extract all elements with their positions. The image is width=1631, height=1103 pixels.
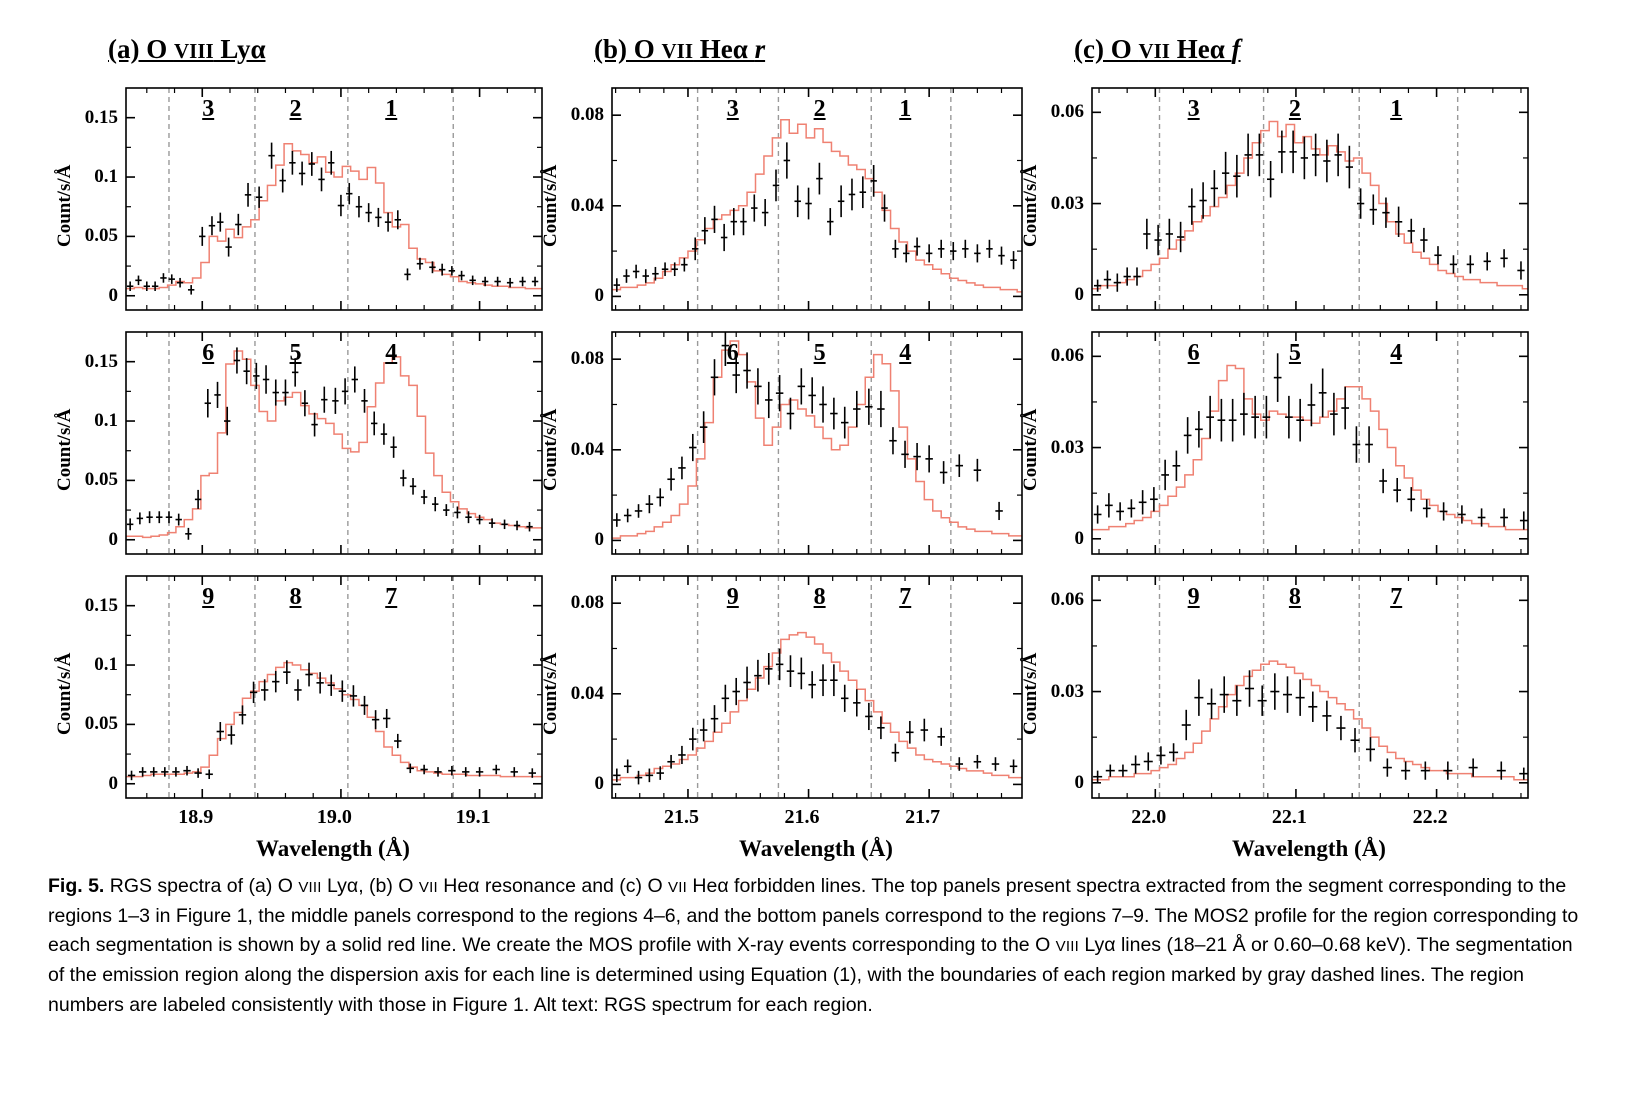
y-tick-label: 0.08: [546, 592, 604, 614]
y-axis-label: Count/s/Å: [54, 409, 76, 491]
region-label-2: 2: [1289, 96, 1301, 123]
region-label-4: 4: [385, 340, 397, 367]
line-type-symbol: r: [755, 34, 766, 64]
y-tick-label: 0.15: [60, 595, 118, 617]
region-label-7: 7: [1390, 584, 1402, 611]
x-tick-label: 18.9: [178, 806, 213, 829]
region-label-8: 8: [814, 584, 826, 611]
x-tick-label: 21.6: [785, 806, 820, 829]
mos2-model-line: [612, 341, 1022, 538]
region-label-9: 9: [727, 584, 739, 611]
rgs-data-points: [613, 325, 1003, 527]
y-axis-label: Count/s/Å: [1020, 165, 1042, 247]
mos2-model-line: [612, 633, 1022, 780]
rgs-data-points: [127, 143, 538, 295]
x-tick-label: 21.5: [664, 806, 699, 829]
x-tick-label: 19.1: [456, 806, 491, 829]
x-tick-label: 21.7: [905, 806, 940, 829]
rgs-data-points: [614, 142, 1017, 292]
plot-a-bottom: [125, 575, 543, 799]
region-label-6: 6: [727, 340, 739, 367]
x-tick-label: 22.2: [1413, 806, 1448, 829]
y-tick-label: 0.06: [1026, 345, 1084, 367]
mos2-model-line: [126, 663, 542, 777]
ion-numeral: VII: [662, 39, 694, 63]
y-tick-label: 0: [1026, 772, 1084, 794]
region-label-3: 3: [202, 96, 214, 123]
mos2-model-line: [1092, 661, 1528, 780]
plot-c-bottom: [1091, 575, 1529, 799]
y-tick-label: 0: [60, 529, 118, 551]
region-label-4: 4: [899, 340, 911, 367]
rgs-data-points: [1094, 131, 1525, 292]
region-label-6: 6: [202, 340, 214, 367]
region-label-5: 5: [1289, 340, 1301, 367]
mos2-model-line: [126, 351, 542, 537]
region-label-9: 9: [1188, 584, 1200, 611]
y-tick-label: 0.15: [60, 351, 118, 373]
plot-frame: [126, 88, 542, 310]
y-tick-label: 0: [546, 773, 604, 795]
y-tick-label: 0: [60, 773, 118, 795]
ion-numeral: VIII: [174, 39, 214, 63]
region-label-5: 5: [290, 340, 302, 367]
plot-c-top: [1091, 87, 1529, 311]
ion-numeral: VIII: [1056, 938, 1079, 955]
y-axis-label: Count/s/Å: [1020, 409, 1042, 491]
plot-a-top: [125, 87, 543, 311]
plot-frame: [1092, 576, 1528, 798]
y-tick-label: 0: [1026, 528, 1084, 550]
region-label-1: 1: [385, 96, 397, 123]
y-axis-label: Count/s/Å: [54, 165, 76, 247]
panel-title-a: (a) O VIII Lyα: [108, 34, 266, 65]
region-label-6: 6: [1188, 340, 1200, 367]
y-tick-label: 0.08: [546, 104, 604, 126]
x-tick-label: 19.0: [317, 806, 352, 829]
x-axis-label-b: Wavelength (Å): [739, 836, 893, 862]
x-axis-label-a: Wavelength (Å): [256, 836, 410, 862]
y-tick-label: 0: [1026, 284, 1084, 306]
mos2-model-line: [612, 120, 1022, 292]
y-tick-label: 0: [60, 285, 118, 307]
mos2-model-line: [1092, 365, 1528, 529]
figure-panel-grid: (a) O VIII LyαWavelength (Å)18.919.019.1…: [0, 0, 1631, 860]
y-axis-label: Count/s/Å: [540, 165, 562, 247]
rgs-data-points: [1093, 670, 1528, 783]
ion-numeral: VII: [419, 879, 438, 896]
region-label-7: 7: [899, 584, 911, 611]
rgs-data-points: [128, 660, 536, 780]
region-label-9: 9: [202, 584, 214, 611]
plot-c-middle: [1091, 331, 1529, 555]
y-tick-label: 0.06: [1026, 589, 1084, 611]
rgs-data-points: [127, 347, 533, 539]
x-axis-label-c: Wavelength (Å): [1232, 836, 1386, 862]
plot-a-middle: [125, 331, 543, 555]
ion-numeral: VII: [1138, 39, 1170, 63]
region-label-8: 8: [290, 584, 302, 611]
y-tick-label: 0.06: [1026, 101, 1084, 123]
mos2-model-line: [1092, 121, 1528, 288]
x-tick-label: 22.1: [1272, 806, 1307, 829]
region-label-3: 3: [727, 96, 739, 123]
y-axis-label: Count/s/Å: [540, 409, 562, 491]
y-axis-label: Count/s/Å: [1020, 653, 1042, 735]
region-label-1: 1: [1390, 96, 1402, 123]
region-label-8: 8: [1289, 584, 1301, 611]
line-type-symbol: f: [1232, 34, 1241, 64]
region-label-5: 5: [814, 340, 826, 367]
region-label-7: 7: [385, 584, 397, 611]
y-tick-label: 0: [546, 529, 604, 551]
x-tick-label: 22.0: [1131, 806, 1166, 829]
ion-numeral: VIII: [298, 879, 321, 896]
region-label-2: 2: [290, 96, 302, 123]
ion-numeral: VII: [668, 879, 687, 896]
y-axis-label: Count/s/Å: [540, 653, 562, 735]
y-tick-label: 0: [546, 285, 604, 307]
region-label-4: 4: [1390, 340, 1402, 367]
y-tick-label: 0.08: [546, 348, 604, 370]
y-tick-label: 0.15: [60, 107, 118, 129]
caption-label: Fig. 5.: [48, 875, 104, 897]
region-label-1: 1: [899, 96, 911, 123]
panel-title-b: (b) O VII Heα r: [594, 34, 765, 65]
region-label-3: 3: [1188, 96, 1200, 123]
figure-caption: Fig. 5. RGS spectra of (a) O VIII Lyα, (…: [48, 872, 1588, 1020]
panel-title-c: (c) O VII Heα f: [1074, 34, 1241, 65]
y-axis-label: Count/s/Å: [54, 653, 76, 735]
region-label-2: 2: [814, 96, 826, 123]
mos2-model-line: [126, 144, 542, 289]
